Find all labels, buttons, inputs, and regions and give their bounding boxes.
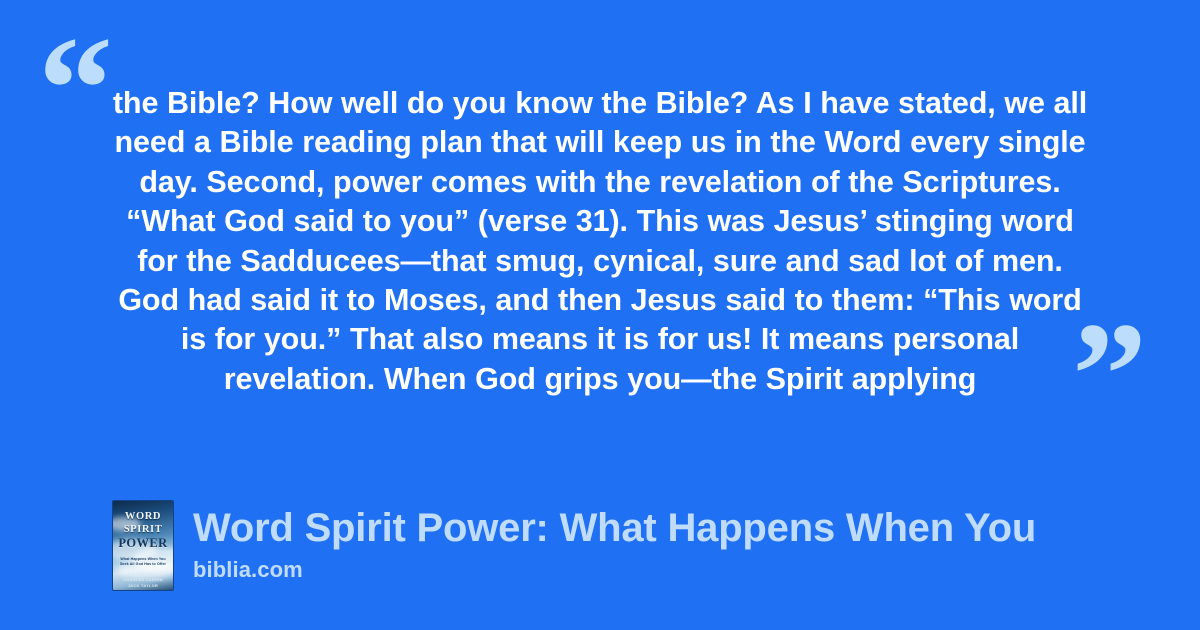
book-cover-title-line: POWER xyxy=(113,536,173,551)
source-site[interactable]: biblia.com xyxy=(193,557,1036,583)
book-cover-title: WORD SPIRIT POWER xyxy=(113,510,173,551)
book-cover-title-line: WORD xyxy=(113,510,173,523)
open-quote-icon: “ xyxy=(38,14,113,164)
book-cover-subtitle: What Happens When You Seek All God Has t… xyxy=(117,557,169,567)
book-cover-subtitle-line: Seek All God Has to Offer xyxy=(117,562,169,567)
quote-block: the Bible? How well do you know the Bibl… xyxy=(108,84,1092,399)
book-cover-thumbnail[interactable]: WORD SPIRIT POWER What Happens When You … xyxy=(113,501,173,590)
book-title[interactable]: Word Spirit Power: What Happens When You xyxy=(193,505,1036,552)
close-quote-icon: ” xyxy=(1072,300,1147,450)
quote-text: the Bible? How well do you know the Bibl… xyxy=(108,84,1092,399)
book-cover-author: JACK TAYLOR xyxy=(117,583,169,589)
footer-text-group: Word Spirit Power: What Happens When You… xyxy=(193,501,1036,583)
book-cover-authors: R.T. KENDALL CHARLES CARRIN JACK TAYLOR xyxy=(117,571,169,589)
footer: WORD SPIRIT POWER What Happens When You … xyxy=(113,501,1036,590)
quote-card: “ the Bible? How well do you know the Bi… xyxy=(0,0,1200,630)
book-cover-title-line: SPIRIT xyxy=(113,523,173,536)
